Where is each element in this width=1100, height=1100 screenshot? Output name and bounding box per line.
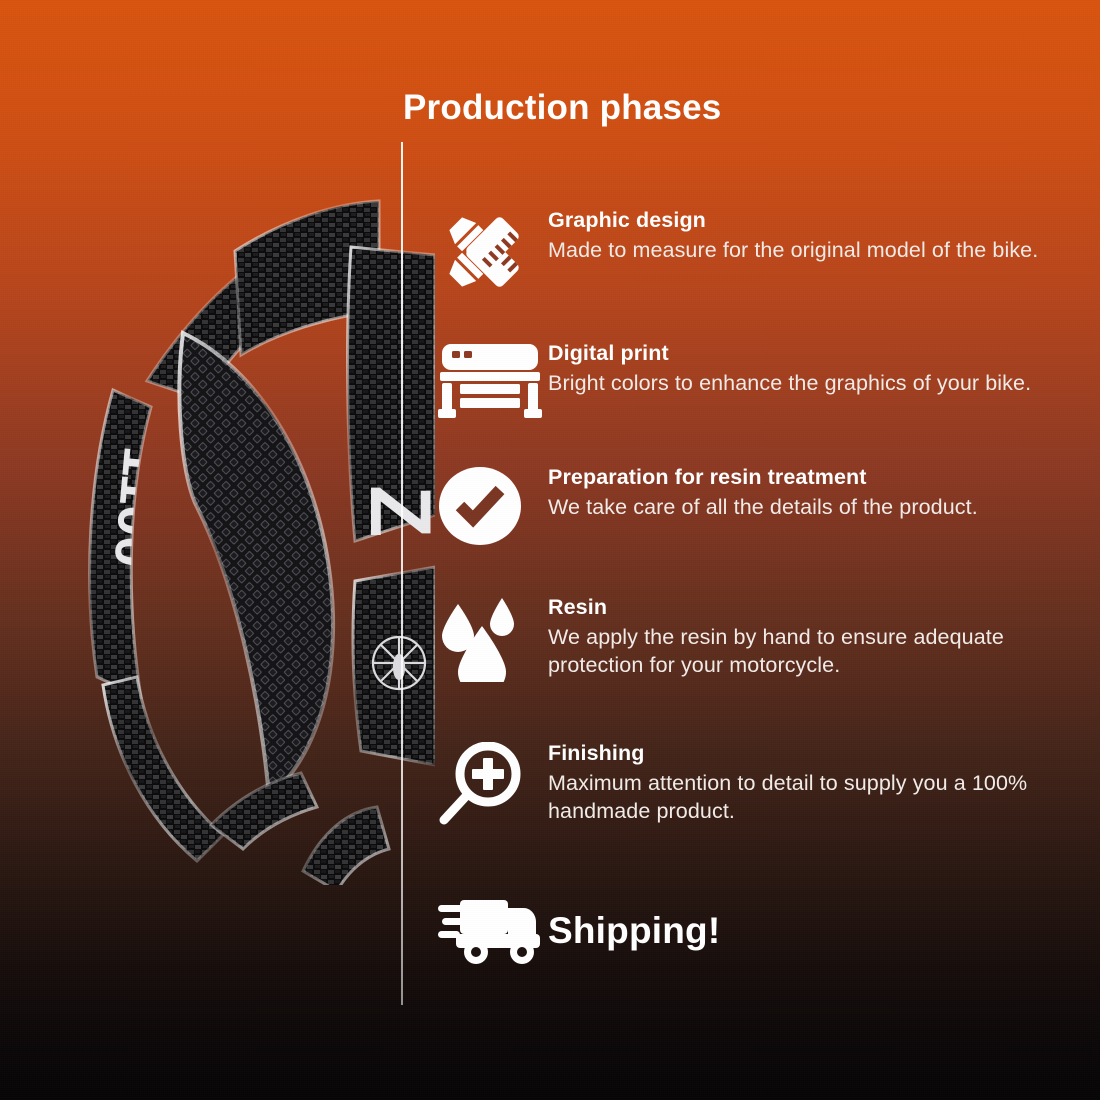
product-part-bottom-tail (103, 677, 223, 861)
product-part-left-arm: 1100 (90, 390, 176, 697)
phase-title: Digital print (548, 340, 1031, 368)
phase-description: We take care of all the details of the p… (548, 493, 978, 522)
infographic-canvas: 1100 Z (0, 0, 1100, 1100)
phase-title: Graphic design (548, 207, 1038, 235)
phase-description: Made to measure for the original model o… (548, 236, 1038, 265)
phase-item-finishing: Finishing Maximum attention to detail to… (438, 738, 1100, 826)
plotter-printer-icon (438, 338, 548, 420)
phase-text: Finishing Maximum attention to detail to… (548, 738, 1100, 826)
shipping-label: Shipping! (548, 912, 720, 949)
phase-item-shipping: Shipping! (438, 873, 720, 986)
phase-title: Finishing (548, 740, 1100, 768)
delivery-truck-icon (438, 894, 548, 966)
phase-description: Maximum attention to detail to supply yo… (548, 769, 1100, 827)
phase-item-digital-print: Digital print Bright colors to enhance t… (438, 338, 1031, 420)
phase-description: We apply the resin by hand to ensure ade… (548, 623, 1100, 681)
phase-text: Digital print Bright colors to enhance t… (548, 338, 1031, 397)
phase-item-preparation: Preparation for resin treatment We take … (438, 462, 978, 546)
shipping-text: Shipping! (548, 873, 720, 986)
phase-item-resin: Resin We apply the resin by hand to ensu… (438, 592, 1100, 682)
water-drops-icon (438, 592, 548, 682)
phase-text: Resin We apply the resin by hand to ensu… (548, 592, 1100, 680)
phase-title: Resin (548, 594, 1100, 622)
check-circle-icon (438, 462, 548, 546)
phase-description: Bright colors to enhance the graphics of… (548, 369, 1031, 398)
phase-item-graphic-design: Graphic design Made to measure for the o… (438, 205, 1038, 295)
production-phases-panel: Production phases (403, 0, 1100, 1100)
product-photo: 1100 Z (55, 185, 435, 885)
product-part-bottom-hook-left (211, 773, 317, 849)
product-part-bottom-hook-right (303, 807, 389, 885)
phase-text: Preparation for resin treatment We take … (548, 462, 978, 521)
page-title: Production phases (403, 88, 721, 128)
product-part-center-crescent (179, 333, 333, 797)
magnifier-plus-icon (438, 738, 548, 826)
pencil-ruler-icon (438, 205, 548, 295)
phase-title: Preparation for resin treatment (548, 464, 978, 492)
phase-text: Graphic design Made to measure for the o… (548, 205, 1038, 264)
